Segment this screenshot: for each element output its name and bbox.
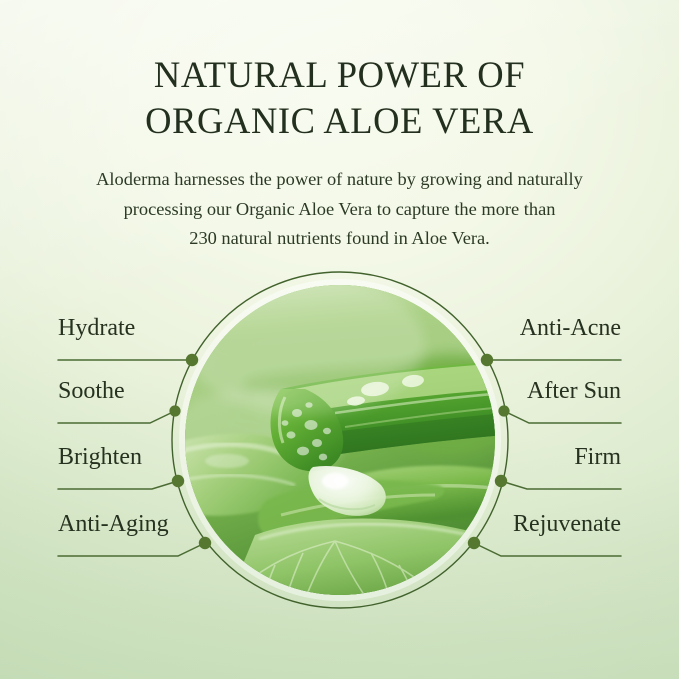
benefit-label-hydrate[interactable]: Hydrate xyxy=(58,314,135,342)
node-dot-hydrate xyxy=(186,354,198,366)
aloe-vera-infographic-poster: NATURAL POWER OF ORGANIC ALOE VERA Alode… xyxy=(0,0,679,679)
benefit-label-brighten[interactable]: Brighten xyxy=(58,443,142,471)
node-dot-anti-acne xyxy=(481,354,493,366)
node-dot-brighten xyxy=(172,475,184,487)
node-dot-soothe xyxy=(169,405,180,416)
benefit-label-soothe[interactable]: Soothe xyxy=(58,377,125,405)
intro-paragraph: Aloderma harnesses the power of nature b… xyxy=(40,165,640,254)
title-line-2: ORGANIC ALOE VERA xyxy=(0,98,679,144)
benefit-label-anti-aging[interactable]: Anti-Aging xyxy=(58,510,169,538)
outer-ring xyxy=(172,272,508,608)
benefit-label-rejuvenate[interactable]: Rejuvenate xyxy=(513,510,621,538)
node-dot-firm xyxy=(495,475,507,487)
intro-line-1: Aloderma harnesses the power of nature b… xyxy=(40,165,640,195)
benefit-label-after-sun[interactable]: After Sun xyxy=(527,377,621,405)
node-dot-after-sun xyxy=(498,405,509,416)
title-line-1: NATURAL POWER OF xyxy=(0,52,679,98)
node-dots xyxy=(169,354,509,549)
benefit-label-firm[interactable]: Firm xyxy=(574,443,621,471)
intro-line-3: 230 natural nutrients found in Aloe Vera… xyxy=(40,224,640,254)
benefit-label-anti-acne[interactable]: Anti-Acne xyxy=(520,314,621,342)
node-dot-anti-aging xyxy=(199,537,211,549)
page-title: NATURAL POWER OF ORGANIC ALOE VERA xyxy=(0,52,679,144)
node-dot-rejuvenate xyxy=(468,537,480,549)
intro-line-2: processing our Organic Aloe Vera to capt… xyxy=(40,195,640,225)
